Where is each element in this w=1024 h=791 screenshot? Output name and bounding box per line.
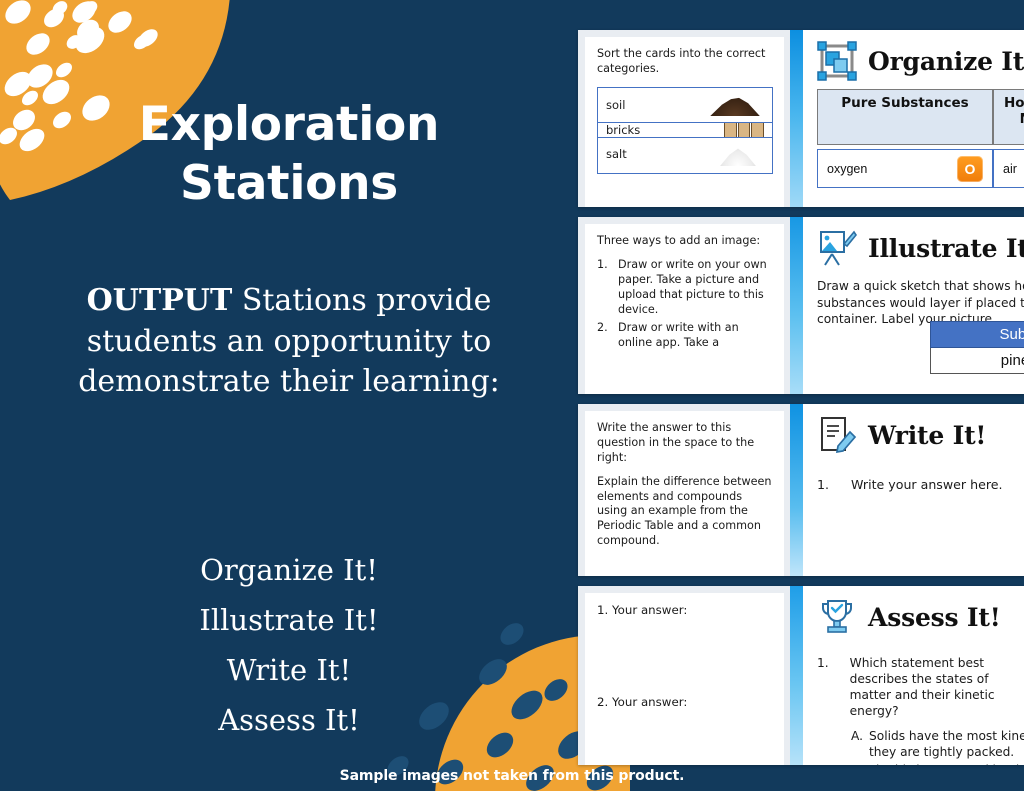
- document-pencil-icon: [817, 415, 857, 455]
- column-header: Homogeneous Mixtures: [993, 89, 1024, 145]
- substance-table: Substance pine wood: [930, 321, 1024, 374]
- option-text: Liquids have more kinetic energy than ga…: [869, 762, 1024, 765]
- station-title: Write It!: [868, 421, 986, 450]
- column-header: Substance: [930, 321, 1024, 348]
- table-cell[interactable]: pine wood: [930, 348, 1024, 374]
- station-title: Assess It!: [868, 603, 1001, 632]
- sort-card-soil[interactable]: soil: [597, 87, 773, 124]
- instruction-intro: Three ways to add an image:: [597, 234, 773, 249]
- assess-question-block: 1. Which statement best describes the st…: [817, 655, 1024, 765]
- card-illustrate-instructions: Three ways to add an image: 1.Draw or wr…: [578, 217, 790, 394]
- answer-slot-1[interactable]: 1. Your answer:: [597, 603, 773, 619]
- sort-card-label: salt: [606, 147, 627, 162]
- table-cell[interactable]: oxygen O: [817, 149, 993, 188]
- instruction-intro: Sort the cards into the correct categori…: [597, 47, 773, 77]
- card-organize: Sort the cards into the correct categori…: [578, 30, 1024, 207]
- easel-paintbrush-icon: [817, 228, 857, 268]
- oxygen-element-chip: O: [957, 156, 983, 182]
- trophy-check-icon: [817, 597, 857, 637]
- question-number: 1.: [817, 655, 829, 719]
- organize-table: Pure Substances oxygen O Homogeneous Mix…: [817, 89, 1024, 188]
- item-text: Write your answer here.: [851, 477, 1002, 492]
- sample-card-stack: Sort the cards into the correct categori…: [578, 0, 1024, 791]
- answer-slot-2[interactable]: 2. Your answer:: [597, 695, 773, 711]
- table-cell[interactable]: air: [993, 149, 1024, 188]
- option-letter: A.: [851, 728, 863, 760]
- instruction-question: Explain the difference between elements …: [597, 475, 773, 549]
- card-organize-instructions: Sort the cards into the correct categori…: [578, 30, 790, 207]
- accent-bar: [790, 217, 803, 394]
- question-text: Which statement best describes the state…: [850, 655, 1024, 719]
- accent-bar: [790, 404, 803, 576]
- sort-card-label: soil: [606, 98, 625, 113]
- instruction-intro: Write the answer to this question in the…: [597, 421, 773, 466]
- answer-options: A. Solids have the most kinetic energy b…: [817, 728, 1024, 765]
- option-text: Solids have the most kinetic energy beca…: [869, 728, 1024, 760]
- sort-card-salt[interactable]: salt: [597, 137, 773, 174]
- card-organize-station: Organize It! Pure Substances oxygen O Ho…: [790, 30, 1024, 207]
- sort-card-label: bricks: [606, 123, 640, 138]
- card-assess: 1. Your answer: 2. Your answer: Assess: [578, 586, 1024, 765]
- option-b[interactable]: B. Liquids have more kinetic energy than…: [851, 762, 1024, 765]
- sort-card-group: soil bricks salt: [597, 87, 773, 174]
- option-a[interactable]: A. Solids have the most kinetic energy b…: [851, 728, 1024, 760]
- step-text: Draw or write with an online app. Take a: [618, 321, 739, 349]
- accent-bar: [790, 30, 803, 207]
- step-text: Draw or write on your own paper. Take a …: [618, 258, 767, 316]
- cell-label: oxygen: [827, 162, 867, 176]
- organize-shapes-icon: [817, 41, 857, 81]
- list-item[interactable]: 1. Write your answer here.: [817, 477, 1024, 492]
- cell-label: air: [1003, 162, 1017, 176]
- soil-mound-icon: [706, 94, 764, 116]
- card-write-instructions: Write the answer to this question in the…: [578, 404, 790, 576]
- card-write: Write the answer to this question in the…: [578, 404, 1024, 576]
- item-number: 1.: [817, 477, 829, 492]
- station-title: Organize It!: [868, 47, 1024, 76]
- card-assess-station: Assess It! 1. Which statement best descr…: [790, 586, 1024, 765]
- write-answer-list: 1. Write your answer here.: [817, 477, 1024, 492]
- option-letter: B.: [851, 762, 863, 765]
- organize-column-homogeneous: Homogeneous Mixtures air: [993, 89, 1024, 188]
- list-item: 2.Draw or write with an online app. Take…: [597, 321, 773, 351]
- card-assess-instructions: 1. Your answer: 2. Your answer:: [578, 586, 790, 765]
- station-title: Illustrate It!: [868, 234, 1024, 263]
- footnote-disclaimer: Sample images not taken from this produc…: [0, 768, 1024, 784]
- column-header: Pure Substances: [817, 89, 993, 145]
- instruction-steps: 1.Draw or write on your own paper. Take …: [597, 258, 773, 351]
- card-write-station: Write It! 1. Write your answer here.: [790, 404, 1024, 576]
- salt-pile-icon: [712, 144, 764, 166]
- card-illustrate: Three ways to add an image: 1.Draw or wr…: [578, 217, 1024, 394]
- organize-column-pure: Pure Substances oxygen O: [817, 89, 993, 188]
- card-illustrate-station: Illustrate It! Draw a quick sketch that …: [790, 217, 1024, 394]
- list-item: 1.Draw or write on your own paper. Take …: [597, 258, 773, 318]
- accent-bar: [790, 586, 803, 765]
